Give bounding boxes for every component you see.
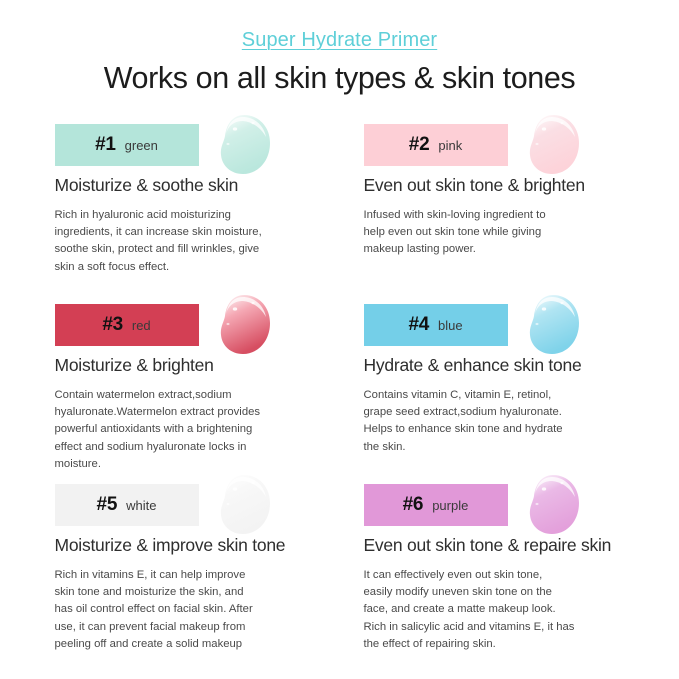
shade-color-bar: #5white — [55, 484, 199, 526]
description-line: Rich in salicylic acid and vitamins E, i… — [364, 619, 632, 636]
description-line: soothe skin, protect and fill wrinkles, … — [55, 241, 323, 258]
description-line: Contains vitamin C, vitamin E, retinol, — [364, 387, 632, 404]
shade-color-bar: #2pink — [364, 124, 508, 166]
benefit-heading: Even out skin tone & brighten — [364, 175, 637, 196]
swatch-row: #1green — [55, 118, 328, 166]
shade-color-name: white — [126, 498, 156, 513]
shade-color-name: pink — [438, 138, 462, 153]
cream-smear-icon — [213, 474, 273, 536]
swatch-row: #3red — [55, 298, 328, 346]
benefit-heading: Hydrate & enhance skin tone — [364, 355, 637, 376]
description-line: It can effectively even out skin tone, — [364, 567, 632, 584]
cream-smear-icon — [522, 114, 582, 176]
swatch-row: #6purple — [364, 478, 637, 526]
shade-number: #2 — [409, 134, 430, 156]
description-line: easily modify uneven skin tone on the — [364, 584, 632, 601]
cream-smear-icon — [522, 294, 582, 356]
benefit-card: #5whiteMoisturize & improve skin toneRic… — [43, 478, 328, 658]
description-line: skin tone and moisturize the skin, and — [55, 584, 323, 601]
brand-title: Super Hydrate Primer — [0, 28, 679, 52]
benefit-card: #4blueHydrate & enhance skin toneContain… — [352, 298, 637, 478]
benefit-heading: Moisturize & soothe skin — [55, 175, 328, 196]
description-line: Infused with skin-loving ingredient to — [364, 207, 632, 224]
benefit-card-grid: #1greenMoisturize & soothe skinRich in h… — [0, 118, 679, 658]
swatch-row: #2pink — [364, 118, 637, 166]
shade-number: #5 — [97, 494, 118, 516]
page-header: Super Hydrate Primer Works on all skin t… — [0, 0, 679, 96]
description-line: Helps to enhance skin tone and hydrate — [364, 421, 632, 438]
shade-number: #6 — [403, 494, 424, 516]
benefit-description: Contain watermelon extract,sodiumhyaluro… — [55, 387, 323, 473]
description-line: skin a soft focus effect. — [55, 259, 323, 276]
shade-color-bar: #4blue — [364, 304, 508, 346]
description-line: use, it can prevent facial makeup from — [55, 619, 323, 636]
benefit-card: #2pinkEven out skin tone & brightenInfus… — [352, 118, 637, 298]
description-line: moisture. — [55, 456, 323, 473]
benefit-heading: Even out skin tone & repaire skin — [364, 535, 637, 556]
shade-number: #4 — [408, 314, 429, 336]
benefit-description: Rich in hyaluronic acid moisturizingingr… — [55, 207, 323, 276]
description-line: hyaluronate.Watermelon extract provides — [55, 404, 323, 421]
shade-color-bar: #3red — [55, 304, 199, 346]
description-line: has oil control effect on facial skin. A… — [55, 601, 323, 618]
benefit-description: Contains vitamin C, vitamin E, retinol,g… — [364, 387, 632, 456]
description-line: help even out skin tone while giving — [364, 224, 632, 241]
description-line: face, and create a matte makeup look. — [364, 601, 632, 618]
benefit-card: #1greenMoisturize & soothe skinRich in h… — [43, 118, 328, 298]
description-line: Rich in hyaluronic acid moisturizing — [55, 207, 323, 224]
shade-number: #3 — [102, 314, 123, 336]
shade-number: #1 — [95, 134, 116, 156]
benefit-heading: Moisturize & improve skin tone — [55, 535, 328, 556]
cream-smear-icon — [522, 474, 582, 536]
benefit-description: It can effectively even out skin tone,ea… — [364, 567, 632, 653]
benefit-description: Rich in vitamins E, it can help improves… — [55, 567, 323, 653]
shade-color-bar: #1green — [55, 124, 199, 166]
page-title: Works on all skin types & skin tones — [0, 61, 679, 96]
swatch-row: #4blue — [364, 298, 637, 346]
description-line: the skin. — [364, 439, 632, 456]
benefit-description: Infused with skin-loving ingredient tohe… — [364, 207, 632, 258]
swatch-row: #5white — [55, 478, 328, 526]
shade-color-name: purple — [432, 498, 468, 513]
description-line: grape seed extract,sodium hyaluronate. — [364, 404, 632, 421]
infographic-page: Super Hydrate Primer Works on all skin t… — [0, 0, 679, 679]
description-line: ingredients, it can increase skin moistu… — [55, 224, 323, 241]
description-line: Contain watermelon extract,sodium — [55, 387, 323, 404]
shade-color-bar: #6purple — [364, 484, 508, 526]
shade-color-name: red — [132, 318, 151, 333]
benefit-heading: Moisturize & brighten — [55, 355, 328, 376]
description-line: Rich in vitamins E, it can help improve — [55, 567, 323, 584]
description-line: peeling off and create a solid makeup — [55, 636, 323, 653]
shade-color-name: blue — [438, 318, 463, 333]
cream-smear-icon — [213, 114, 273, 176]
description-line: powerful antioxidants with a brightening — [55, 421, 323, 438]
cream-smear-icon — [213, 294, 273, 356]
benefit-card: #3redMoisturize & brightenContain waterm… — [43, 298, 328, 478]
description-line: makeup lasting power. — [364, 241, 632, 258]
description-line: the effect of repairing skin. — [364, 636, 632, 653]
description-line: effect and sodium hyaluronate locks in — [55, 439, 323, 456]
benefit-card: #6purpleEven out skin tone & repaire ski… — [352, 478, 637, 658]
shade-color-name: green — [125, 138, 158, 153]
